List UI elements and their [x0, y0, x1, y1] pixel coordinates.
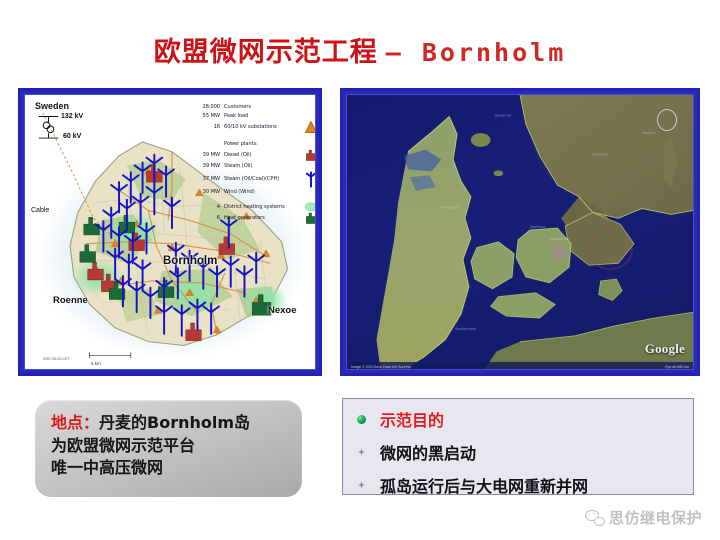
legend-text: Heat generators: [224, 214, 304, 223]
left-map-frame: Sweden 132 kV 60 kV Bornholm Roenne Nexo…: [18, 88, 322, 376]
satellite-credit-left: Image © 2010 Aero Data Int'l Surveys: [351, 365, 411, 369]
plant-red-icon: [304, 149, 316, 162]
cable-label: Cable: [31, 207, 49, 214]
power-plants-header: Power plants:: [224, 140, 304, 149]
satellite-credit-right: Eye alt 860 km: [665, 365, 689, 369]
legend-row: 16 60/10 kV substations: [193, 120, 316, 134]
wind-turbine-icon: [304, 171, 316, 188]
bornholm-schematic-map: Sweden 132 kV 60 kV Bornholm Roenne Nexo…: [25, 95, 315, 369]
google-watermark: Google: [645, 341, 685, 357]
diamond-bullet-icon: [357, 448, 366, 457]
map-date-stamp: 2007-09-03 CET: [43, 357, 70, 361]
sweden-label: Sweden: [35, 101, 69, 111]
right-map-inner: Skagerrak Midtjylland Sjaelland Gotland …: [346, 94, 694, 370]
town-roenne-label: Roenne: [53, 295, 88, 306]
demo-purpose-box: 示范目的 微网的黑启动 孤岛运行后与大电网重新并网: [342, 398, 694, 495]
legend-row: 39 MW Diesel (Oil): [193, 149, 316, 162]
svg-text:Smaland: Smaland: [593, 153, 608, 157]
legend-text: District heating systems: [224, 203, 304, 212]
legend-row: 30 MW Wind (Wind): [193, 188, 316, 197]
location-line-3: 唯一中高压微网: [51, 457, 288, 480]
wechat-account-name: 思仿继电保护: [609, 507, 702, 528]
legend-row: 28,000 Customers: [193, 103, 316, 112]
page-title-en: — Bornholm: [386, 38, 567, 67]
svg-text:Sjaelland: Sjaelland: [530, 225, 545, 229]
legend-value: 37 MW: [193, 175, 224, 184]
location-line-2: 为欧盟微网示范平台: [51, 435, 288, 458]
demo-purpose-item: 微网的黑启动: [380, 440, 476, 464]
page-title-cn: 欧盟微网示范工程: [154, 37, 378, 68]
legend-value: 4: [193, 203, 224, 212]
svg-text:Syddanmark: Syddanmark: [455, 327, 476, 331]
location-value: 丹麦的Bornholm岛: [99, 413, 250, 432]
denmark-satellite-image: Skagerrak Midtjylland Sjaelland Gotland …: [347, 95, 693, 369]
legend-row: 37 MW Steam (Oil/Coal)(CPH): [193, 171, 316, 188]
legend-text: 60/10 kV substations: [224, 123, 304, 132]
legend-value: 16: [193, 123, 224, 132]
legend-text: Steam (Oil): [224, 162, 304, 171]
satellite-landmass-graphic: Skagerrak Midtjylland Sjaelland Gotland …: [347, 95, 693, 369]
map-legend: 28,000 Customers 55 MW Peak load 16 60/1…: [193, 103, 316, 225]
legend-value: 39 MW: [193, 151, 224, 160]
legend-row: 4 District heating systems: [193, 202, 316, 212]
plant-green-icon: [304, 212, 316, 225]
legend-section-header: Power plants:: [193, 140, 316, 149]
heating-area-icon: [304, 202, 316, 212]
voltage-132kv-label: 132 kV: [61, 113, 83, 120]
svg-text:Koebenhavn: Koebenhavn: [549, 237, 570, 241]
demo-purpose-item-row: 微网的黑启动: [353, 440, 687, 464]
location-label: 地点：: [51, 413, 99, 432]
legend-row: 39 MW Steam (Oil): [193, 162, 316, 171]
legend-row: 55 MW Peak load: [193, 112, 316, 121]
legend-value: 28,000: [193, 103, 224, 112]
legend-text: Peak load: [224, 112, 304, 121]
legend-row: 6 Heat generators: [193, 212, 316, 225]
legend-value: 30 MW: [193, 188, 224, 197]
svg-text:Midtjylland: Midtjylland: [441, 206, 459, 210]
legend-text: Steam (Oil/Coal)(CPH): [224, 175, 304, 184]
legend-value: 39 MW: [193, 162, 224, 171]
slide-canvas: 欧盟微网示范工程— Bornholm: [0, 0, 720, 540]
legend-value: 6: [193, 214, 224, 223]
demo-purpose-item-row: 孤岛运行后与大电网重新并网: [353, 473, 687, 497]
demo-purpose-heading-row: 示范目的: [353, 407, 687, 431]
demo-purpose-heading: 示范目的: [380, 407, 444, 431]
wechat-watermark: 思仿继电保护: [585, 507, 702, 528]
svg-text:Gotland: Gotland: [642, 131, 655, 135]
wechat-icon: [585, 510, 605, 526]
left-map-inner: Sweden 132 kV 60 kV Bornholm Roenne Nexo…: [24, 94, 316, 370]
diamond-bullet-icon: [357, 481, 366, 490]
location-info-box: 地点：丹麦的Bornholm岛 为欧盟微网示范平台 唯一中高压微网: [35, 400, 302, 497]
green-sphere-bullet-icon: [357, 415, 366, 424]
island-name-label: Bornholm: [163, 255, 217, 267]
legend-text: Diesel (Oil): [224, 151, 304, 160]
right-map-frame: Skagerrak Midtjylland Sjaelland Gotland …: [340, 88, 700, 376]
voltage-60kv-label: 60 kV: [63, 133, 81, 140]
substation-triangle-icon: [304, 120, 316, 134]
legend-text: Wind (Wind): [224, 188, 304, 197]
scale-bar-label: 5 km: [91, 361, 101, 366]
page-title: 欧盟微网示范工程— Bornholm: [0, 30, 720, 69]
legend-text: Customers: [224, 103, 304, 112]
compass-icon: [657, 109, 677, 131]
town-nexoe-label: Nexoe: [268, 305, 297, 316]
legend-value: 55 MW: [193, 112, 224, 121]
location-line-1: 地点：丹麦的Bornholm岛: [51, 412, 288, 435]
svg-text:Skagerrak: Skagerrak: [494, 114, 511, 118]
demo-purpose-item: 孤岛运行后与大电网重新并网: [380, 473, 588, 497]
